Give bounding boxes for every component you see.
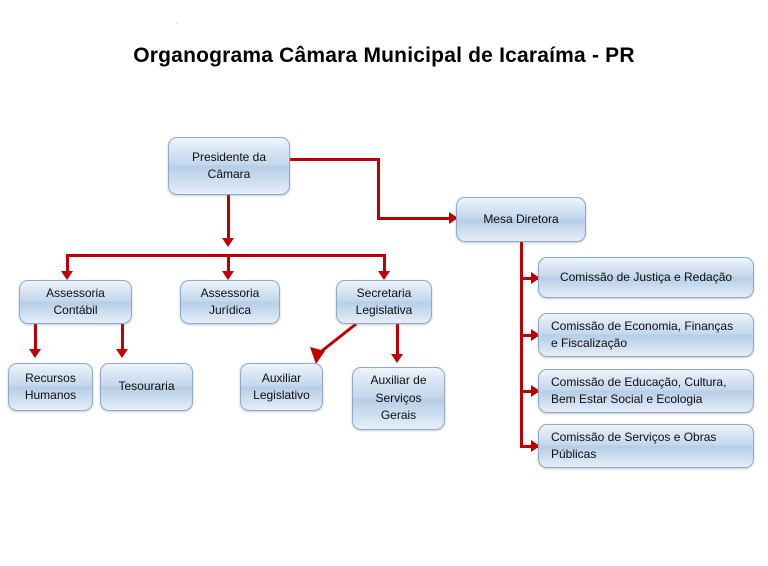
node-comissao-servicos-obras[interactable]: Comissão de Serviços e Obras Públicas — [538, 424, 754, 468]
arrow-into-assessoria-juridica — [222, 271, 234, 280]
arrow-into-tesouraria — [116, 349, 128, 358]
node-comissao-economia-line2: e Fiscalização — [551, 335, 733, 352]
connector-mesa-spine — [520, 241, 523, 447]
connector-presidente-stem — [227, 194, 230, 240]
arrow-into-recursos-humanos — [29, 349, 41, 358]
node-presidente-line2: Câmara — [192, 166, 266, 183]
page-speck — [176, 22, 178, 24]
node-mesa-diretora-line1: Mesa Diretora — [483, 211, 558, 228]
node-comissao-servicos-line1: Comissão de Serviços e Obras — [551, 429, 716, 446]
node-comissao-servicos-line2: Públicas — [551, 446, 716, 463]
connector-presidente-to-mesa-horizontal-bottom — [377, 217, 451, 220]
node-recursos-humanos-line1: Recursos — [25, 370, 76, 387]
connector-presidente-to-mesa-vertical — [377, 158, 380, 220]
node-assessoria-juridica-line2: Jurídica — [201, 302, 260, 319]
node-auxiliar-servicos-gerais[interactable]: Auxiliar de Serviços Gerais — [352, 367, 445, 430]
node-auxiliar-servicos-gerais-line1: Auxiliar de — [370, 372, 426, 389]
node-assessoria-juridica-line1: Assessoria — [201, 285, 260, 302]
arrow-into-assessoria-contabil — [61, 271, 73, 280]
node-tesouraria[interactable]: Tesouraria — [100, 363, 193, 411]
node-comissao-educacao-line2: Bem Estar Social e Ecologia — [551, 391, 726, 408]
node-assessoria-contabil[interactable]: Assessoria Contábil — [19, 280, 132, 324]
node-secretaria-legislativa-line1: Secretaria — [356, 285, 413, 302]
node-mesa-diretora[interactable]: Mesa Diretora — [456, 197, 586, 242]
connector-contabil-to-recursos — [34, 323, 37, 351]
node-recursos-humanos-line2: Humanos — [25, 387, 76, 404]
node-assessoria-juridica[interactable]: Assessoria Jurídica — [180, 280, 280, 324]
node-secretaria-legislativa-line2: Legislativa — [356, 302, 413, 319]
organogram-canvas: Organograma Câmara Municipal de Icaraíma… — [0, 0, 768, 566]
node-secretaria-legislativa[interactable]: Secretaria Legislativa — [336, 280, 432, 324]
connector-contabil-to-tesouraria — [121, 323, 124, 351]
node-comissao-justica-redacao[interactable]: Comissão de Justiça e Redação — [538, 257, 754, 298]
node-assessoria-contabil-line1: Assessoria — [46, 285, 105, 302]
node-auxiliar-servicos-gerais-line2: Serviços — [370, 390, 426, 407]
node-auxiliar-legislativo-line2: Legislativo — [253, 387, 310, 404]
node-presidente-line1: Presidente da — [192, 149, 266, 166]
node-auxiliar-legislativo[interactable]: Auxiliar Legislativo — [240, 363, 323, 411]
arrow-presidente-stem — [222, 238, 234, 247]
node-comissao-educacao-line1: Comissão de Educação, Cultura, — [551, 374, 726, 391]
node-comissao-justica-line1: Comissão de Justiça e Redação — [560, 269, 732, 286]
node-assessoria-contabil-line2: Contábil — [46, 302, 105, 319]
page-title: Organograma Câmara Municipal de Icaraíma… — [0, 44, 768, 68]
node-tesouraria-line1: Tesouraria — [118, 378, 174, 395]
node-comissao-educacao-cultura[interactable]: Comissão de Educação, Cultura, Bem Estar… — [538, 369, 754, 413]
node-recursos-humanos[interactable]: Recursos Humanos — [8, 363, 93, 411]
connector-presidente-to-mesa-horizontal-top — [290, 158, 380, 161]
connector-secretaria-to-auxiliar-servicos — [396, 323, 399, 356]
arrow-into-auxiliar-servicos-gerais — [391, 354, 403, 363]
arrow-into-secretaria-legislativa — [378, 271, 390, 280]
node-auxiliar-legislativo-line1: Auxiliar — [253, 370, 310, 387]
node-auxiliar-servicos-gerais-line3: Gerais — [370, 407, 426, 424]
node-comissao-economia-financas[interactable]: Comissão de Economia, Finanças e Fiscali… — [538, 313, 754, 357]
node-presidente-da-camara[interactable]: Presidente da Câmara — [168, 137, 290, 195]
node-comissao-economia-line1: Comissão de Economia, Finanças — [551, 318, 733, 335]
